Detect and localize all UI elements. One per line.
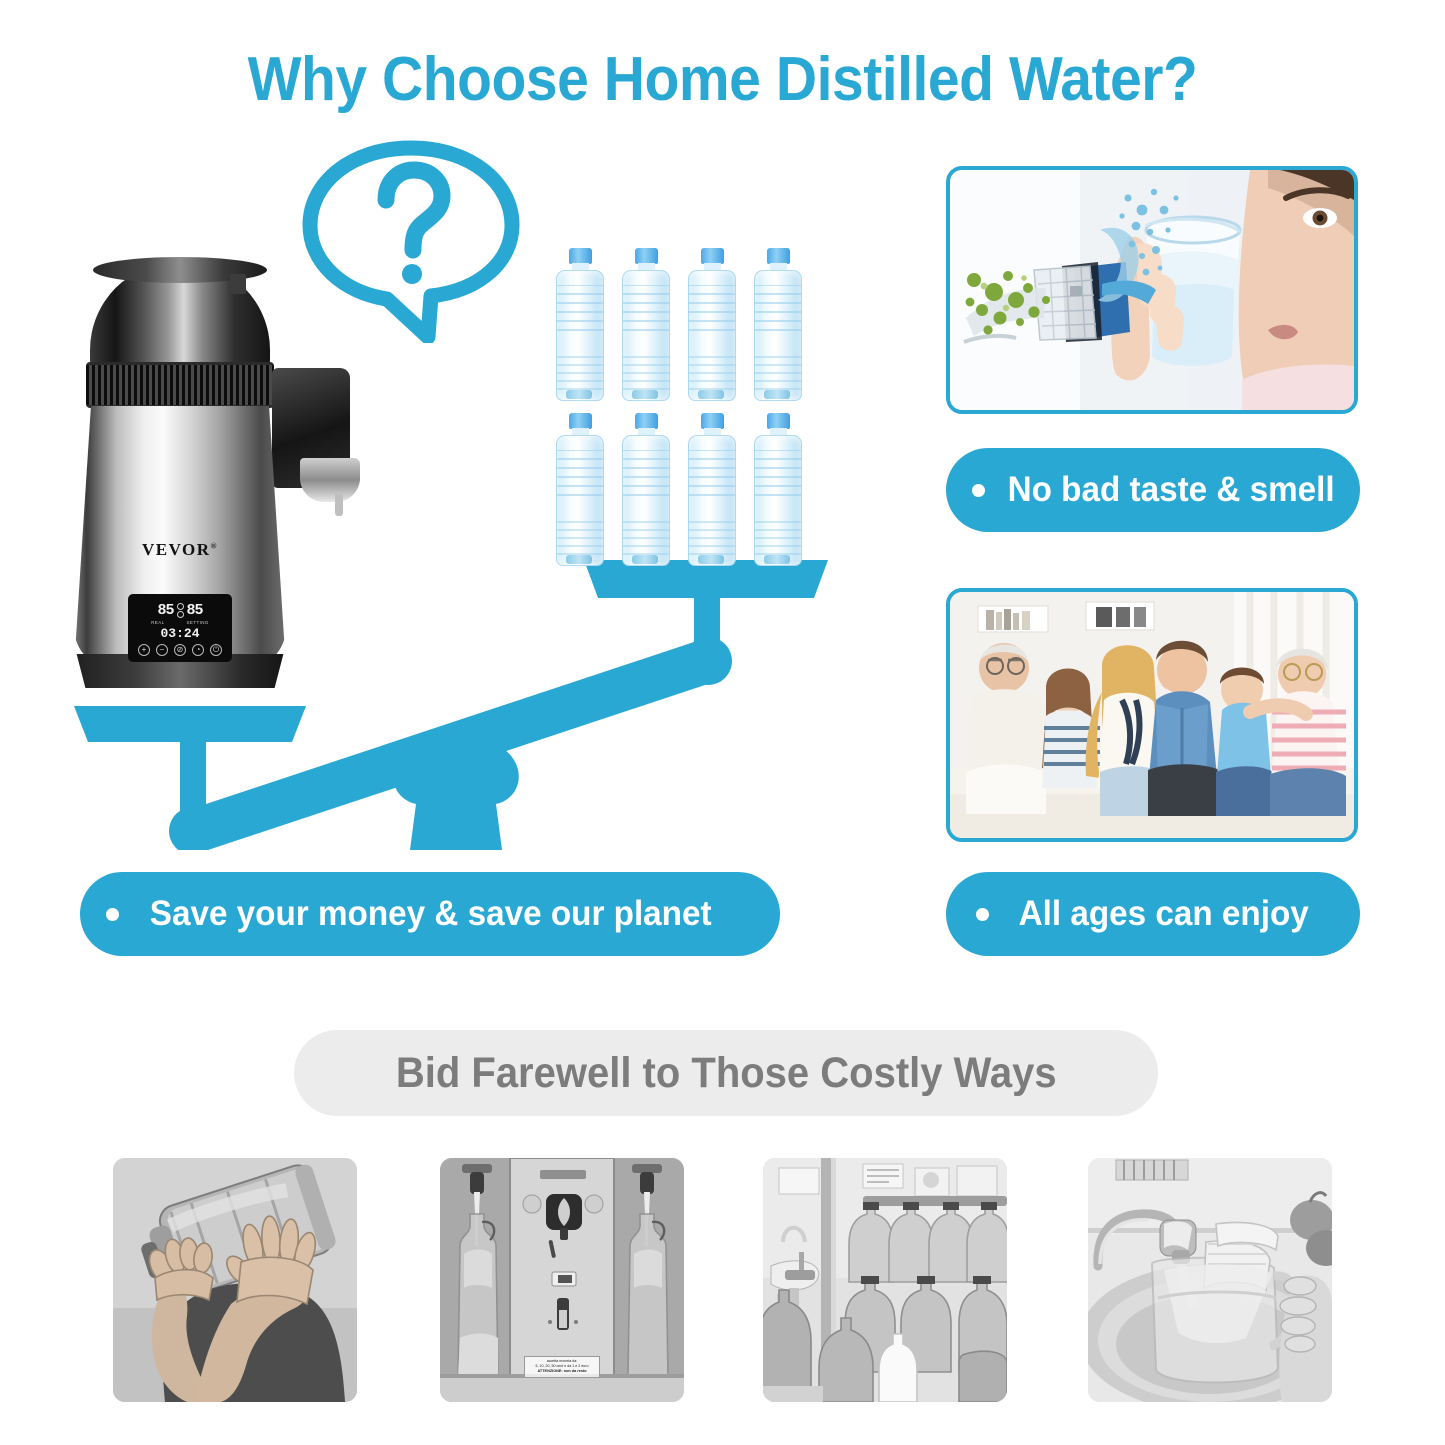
distiller-spout-tip xyxy=(335,494,343,516)
bottle-base xyxy=(632,390,658,399)
real-label: REAL xyxy=(151,620,164,625)
bottle-row-top xyxy=(552,248,814,401)
bottle-body xyxy=(688,270,736,401)
badge-label: Save your money & save our planet xyxy=(150,894,712,934)
panel-button-row: + − ⊘ ◔ ⏻ xyxy=(128,644,232,656)
control-panel[interactable]: 85 85 REAL SETTING 03:24 + − ⊘ ◔ ⏻ xyxy=(128,594,232,662)
badge-all-ages: All ages can enjoy xyxy=(946,872,1360,956)
photo-stacked-water-jugs xyxy=(763,1158,1007,1402)
photo-carrying-jug xyxy=(113,1158,357,1402)
vending-machine-caption: accetta moneta da: 5, 10, 20, 50 cent e … xyxy=(524,1356,600,1378)
bottle-cap xyxy=(569,248,592,264)
water-bottle xyxy=(684,248,740,401)
vevor-logo: VEVOR® xyxy=(74,540,286,560)
bottle-base xyxy=(764,555,790,564)
panel-readouts: 85 85 xyxy=(128,598,232,622)
plus-button[interactable]: + xyxy=(138,644,150,656)
water-distiller-product: VEVOR® 85 85 REAL SETTING 03:24 + − ⊘ ◔ … xyxy=(60,262,380,702)
photo-filter-pitcher-faucet xyxy=(1088,1158,1332,1402)
water-bottle xyxy=(552,248,608,401)
bottle-base xyxy=(632,555,658,564)
bottle-cap xyxy=(767,248,790,264)
bottle-body xyxy=(556,435,604,566)
bullet-dot-icon xyxy=(972,484,985,497)
setting-temperature-value: 85 xyxy=(187,602,203,619)
water-bottle xyxy=(618,248,674,401)
bottle-base xyxy=(764,390,790,399)
power-button[interactable]: ⏻ xyxy=(210,644,222,656)
water-bottle xyxy=(618,413,674,566)
photo-woman-drinking-water xyxy=(946,166,1358,414)
plastic-water-bottles-group xyxy=(552,248,814,578)
bottle-base xyxy=(698,390,724,399)
real-temperature-value: 85 xyxy=(157,602,173,619)
mute-button[interactable]: ⊘ xyxy=(174,644,186,656)
distiller-vent-fins xyxy=(86,362,274,408)
bottle-cap xyxy=(635,413,658,429)
bottle-body xyxy=(622,270,670,401)
page-title: Why Choose Home Distilled Water? xyxy=(58,44,1387,115)
vevor-wordmark: VEVOR xyxy=(142,540,211,559)
banner-text: Bid Farewell to Those Costly Ways xyxy=(396,1049,1057,1098)
water-bottle xyxy=(684,413,740,566)
bottle-cap xyxy=(701,248,724,264)
bottle-body xyxy=(754,435,802,566)
water-bottle xyxy=(552,413,608,566)
bottle-body xyxy=(754,270,802,401)
bottle-base xyxy=(566,390,592,399)
bottle-row-bottom xyxy=(552,413,814,566)
bottle-body xyxy=(622,435,670,566)
photo-family-on-sofa xyxy=(946,588,1358,842)
panel-readout-labels: REAL SETTING xyxy=(128,620,232,625)
badge-save-money: Save your money & save our planet xyxy=(80,872,780,956)
badge-no-bad-taste: No bad taste & smell xyxy=(946,448,1360,532)
bottle-body xyxy=(556,270,604,401)
bottle-base xyxy=(566,555,592,564)
degree-icons xyxy=(177,603,184,618)
costly-ways-banner: Bid Farewell to Those Costly Ways xyxy=(294,1030,1158,1116)
bottle-cap xyxy=(635,248,658,264)
bottle-cap xyxy=(569,413,592,429)
badge-label: All ages can enjoy xyxy=(1019,894,1309,934)
photo-water-vending-machine: accetta moneta da: 5, 10, 20, 50 cent e … xyxy=(440,1158,684,1402)
bullet-dot-icon xyxy=(106,908,119,921)
water-bottle xyxy=(750,248,806,401)
bullet-dot-icon xyxy=(976,908,989,921)
caption-line-3: ATTENZIONE: non da resto xyxy=(537,1369,586,1373)
distiller-lid-clip xyxy=(230,274,246,294)
setting-label: SETTING xyxy=(187,620,209,625)
timer-button[interactable]: ◔ xyxy=(192,644,204,656)
water-bottle xyxy=(750,413,806,566)
bottle-cap xyxy=(767,413,790,429)
bottle-base xyxy=(698,555,724,564)
minus-button[interactable]: − xyxy=(156,644,168,656)
trademark-symbol: ® xyxy=(211,541,218,550)
distiller-spout-lip xyxy=(300,458,360,502)
badge-label: No bad taste & smell xyxy=(1008,470,1335,510)
timer-display: 03:24 xyxy=(128,626,232,641)
bottle-cap xyxy=(701,413,724,429)
bottle-body xyxy=(688,435,736,566)
